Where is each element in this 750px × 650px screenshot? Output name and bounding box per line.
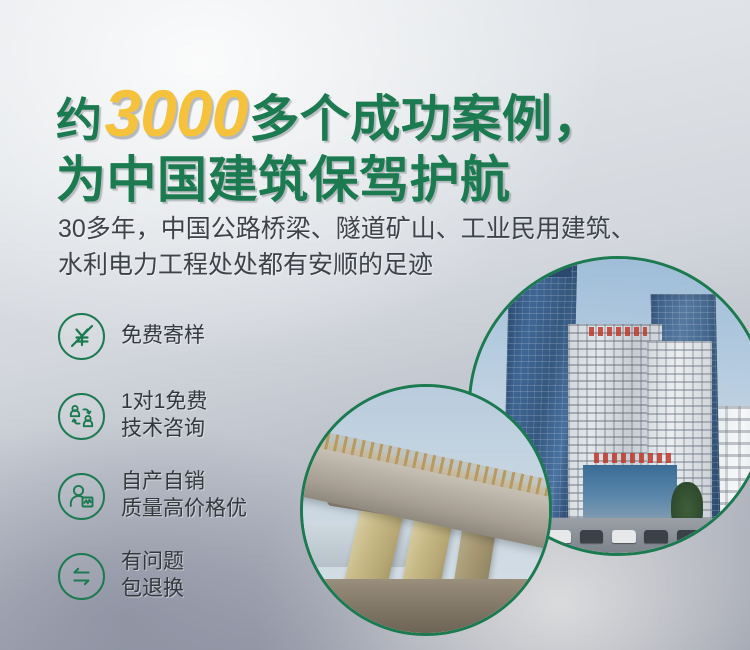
bridge-photo-content xyxy=(303,387,549,633)
ground-rubble xyxy=(303,579,549,633)
bridge-photo xyxy=(300,384,552,636)
car xyxy=(612,530,636,543)
feature-label: 1对1免费 技术咨询 xyxy=(121,389,207,443)
person-chart-icon xyxy=(58,473,105,520)
two-way-arrow-icon xyxy=(58,553,105,600)
headline-suffix: 多个成功案例， xyxy=(249,91,603,147)
hotel-entrance xyxy=(583,465,677,518)
headline-line-1: 约3000多个成功案例， xyxy=(56,78,603,149)
headline-prefix: 约 xyxy=(56,94,103,146)
promo-banner: 约3000多个成功案例， 为中国建筑保驾护航 30多年，中国公路桥梁、隧道矿山、… xyxy=(0,0,750,650)
headline: 约3000多个成功案例， 为中国建筑保驾护航 xyxy=(56,78,603,207)
rooftop-sign xyxy=(589,327,648,336)
feature-label: 免费寄样 xyxy=(121,323,205,350)
headline-line-2: 为中国建筑保驾护航 xyxy=(56,153,603,207)
feature-label: 有问题 包退换 xyxy=(121,549,184,603)
feature-label: 自产自销 质量高价格优 xyxy=(121,469,247,523)
headline-number: 3000 xyxy=(103,76,250,150)
facade-sign xyxy=(594,453,670,463)
glass-tower-left-cap xyxy=(509,259,571,277)
two-person-exchange-icon xyxy=(58,393,105,440)
car xyxy=(677,530,701,543)
car xyxy=(580,530,604,543)
subtitle-line-1: 30多年，中国公路桥梁、隧道矿山、工业民用建筑、 xyxy=(58,212,718,248)
yuan-slashed-icon xyxy=(58,313,105,360)
car xyxy=(547,530,571,543)
feature-item-free-sample: 免费寄样 xyxy=(58,296,358,376)
car xyxy=(644,530,668,543)
